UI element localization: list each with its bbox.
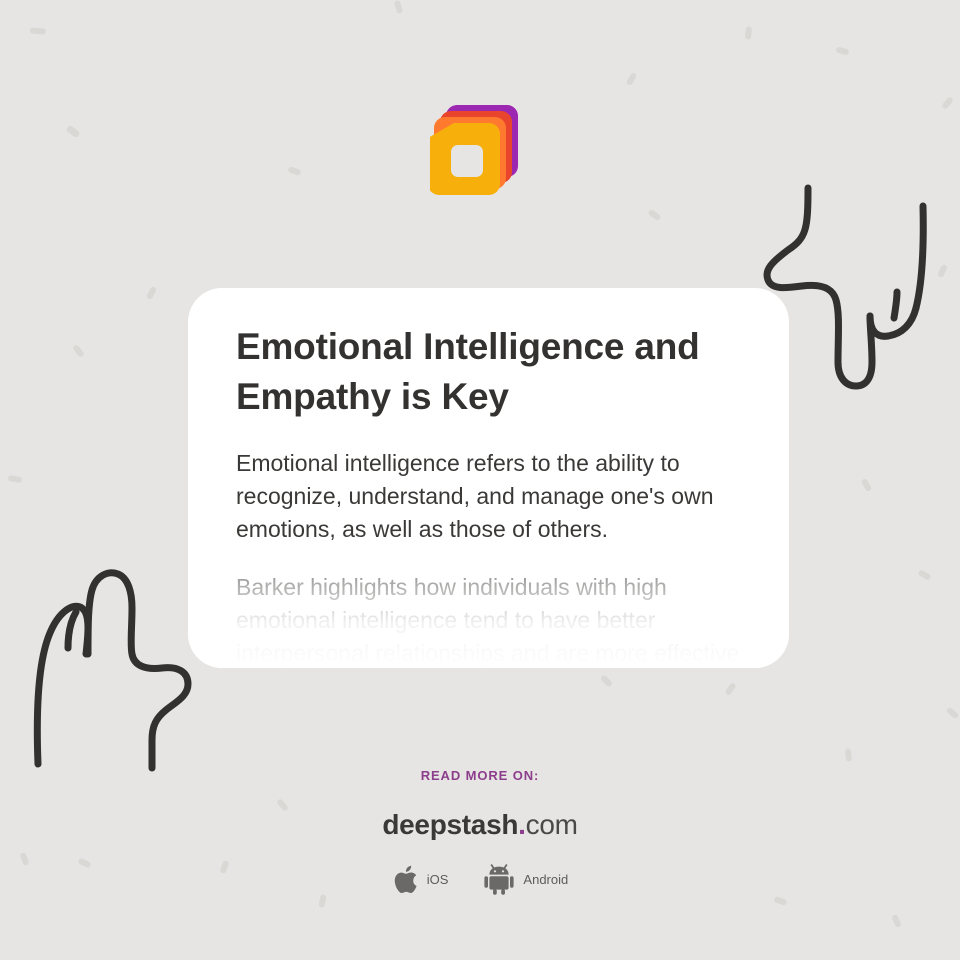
wordmark-name: deepstash <box>382 809 518 840</box>
store-badges: iOS <box>0 863 960 895</box>
confetti-dash <box>917 569 931 581</box>
idea-card[interactable]: Emotional Intelligence and Empathy is Ke… <box>188 288 789 668</box>
poster-canvas: Emotional Intelligence and Empathy is Ke… <box>0 0 960 960</box>
hand-left-illustration <box>26 562 206 774</box>
confetti-dash <box>626 72 638 86</box>
confetti-dash <box>891 914 902 928</box>
confetti-dash <box>773 896 787 906</box>
confetti-dash <box>861 478 873 492</box>
confetti-dash <box>318 894 326 908</box>
read-more-label: READ MORE ON: <box>0 768 960 783</box>
android-store-badge[interactable]: Android <box>484 863 568 895</box>
confetti-dash <box>146 286 157 300</box>
deepstash-logo <box>430 103 520 195</box>
logo-inner-hole <box>451 145 483 177</box>
android-icon <box>484 863 514 895</box>
confetti-dash <box>835 46 849 55</box>
card-content: Emotional Intelligence and Empathy is Ke… <box>188 288 789 668</box>
confetti-dash <box>30 27 46 34</box>
ios-store-label: iOS <box>427 872 449 887</box>
confetti-dash <box>72 344 85 358</box>
confetti-dash <box>745 26 752 39</box>
confetti-dash <box>647 209 661 221</box>
card-paragraph-2: Barker highlights how individuals with h… <box>236 571 741 668</box>
confetti-dash <box>600 674 613 687</box>
confetti-dash <box>65 124 80 138</box>
ios-store-badge[interactable]: iOS <box>392 864 449 895</box>
confetti-dash <box>937 264 948 278</box>
confetti-dash <box>946 707 960 720</box>
wordmark-tld: com <box>526 809 578 840</box>
confetti-dash <box>8 475 23 483</box>
confetti-dash <box>287 166 301 176</box>
footer: READ MORE ON: deepstash.com iOS <box>0 768 960 895</box>
card-title: Emotional Intelligence and Empathy is Ke… <box>236 322 741 423</box>
card-paragraph-1: Emotional intelligence refers to the abi… <box>236 447 741 547</box>
confetti-dash <box>941 96 954 110</box>
confetti-dash <box>845 748 852 761</box>
wordmark-dot: . <box>518 809 525 840</box>
confetti-dash <box>394 0 403 14</box>
android-store-label: Android <box>523 872 568 887</box>
confetti-dash <box>724 682 736 696</box>
apple-icon <box>392 864 418 895</box>
deepstash-wordmark[interactable]: deepstash.com <box>0 809 960 841</box>
